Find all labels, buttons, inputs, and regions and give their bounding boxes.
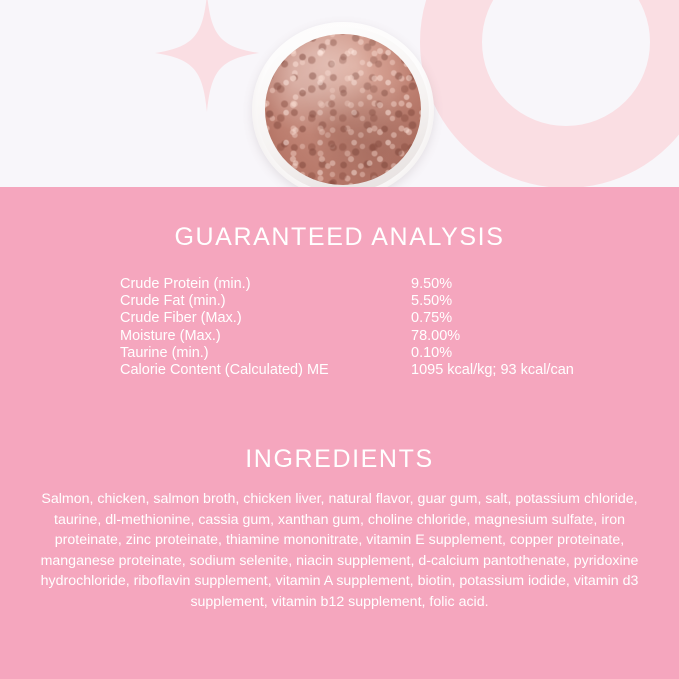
table-row: Taurine (min.) 0.10% — [120, 345, 660, 362]
table-row: Moisture (Max.) 78.00% — [120, 328, 660, 345]
analysis-label: Calorie Content (Calculated) ME — [120, 362, 411, 378]
analysis-value: 1095 kcal/kg; 93 kcal/can — [411, 362, 574, 378]
ring-decoration-icon — [420, 0, 679, 187]
analysis-label: Crude Fiber (Max.) — [120, 310, 411, 326]
analysis-value: 0.75% — [411, 310, 452, 326]
table-row: Crude Fiber (Max.) 0.75% — [120, 310, 660, 327]
analysis-label: Crude Fat (min.) — [120, 293, 411, 309]
sparkle-icon — [155, 0, 259, 112]
ingredients-title: INGREDIENTS — [0, 445, 679, 474]
table-row: Calorie Content (Calculated) ME 1095 kca… — [120, 362, 660, 379]
analysis-value: 0.10% — [411, 345, 452, 361]
analysis-value: 9.50% — [411, 276, 452, 292]
table-row: Crude Protein (min.) 9.50% — [120, 276, 660, 293]
analysis-value: 78.00% — [411, 328, 460, 344]
ingredients-list-text: Salmon, chicken, salmon broth, chicken l… — [29, 489, 650, 613]
guaranteed-analysis-title: GUARANTEED ANALYSIS — [0, 223, 679, 252]
table-row: Crude Fat (min.) 5.50% — [120, 293, 660, 310]
pate-food-texture — [265, 34, 421, 185]
guaranteed-analysis-table: Crude Protein (min.) 9.50% Crude Fat (mi… — [120, 276, 660, 379]
analysis-label: Moisture (Max.) — [120, 328, 411, 344]
hero-section — [0, 0, 679, 187]
analysis-label: Taurine (min.) — [120, 345, 411, 361]
analysis-value: 5.50% — [411, 293, 452, 309]
food-bowl-image — [252, 22, 434, 187]
analysis-label: Crude Protein (min.) — [120, 276, 411, 292]
product-info-page: GUARANTEED ANALYSIS INGREDIENTS Crude Pr… — [0, 0, 679, 679]
